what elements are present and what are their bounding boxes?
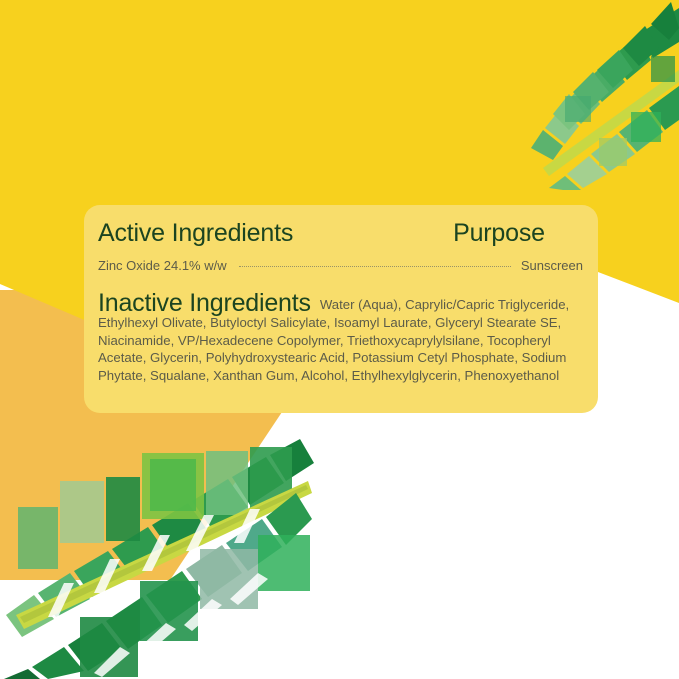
inactive-ingredients-heading: Inactive Ingredients [98, 289, 311, 317]
active-ingredients-heading: Active Ingredients [98, 219, 293, 248]
product-label-graphic: Active Ingredients Purpose Zinc Oxide 24… [0, 0, 679, 679]
inactive-ingredients-block: Inactive IngredientsWater (Aqua), Capryl… [98, 289, 583, 384]
ingredients-card: Active Ingredients Purpose Zinc Oxide 24… [84, 205, 598, 413]
active-ingredient-purpose: Sunscreen [521, 258, 583, 273]
active-ingredient-row: Zinc Oxide 24.1% w/w Sunscreen [98, 258, 583, 273]
active-ingredient-name: Zinc Oxide 24.1% w/w [98, 258, 227, 273]
purpose-heading: Purpose [453, 219, 545, 248]
dot-leader [239, 265, 511, 267]
active-ingredients-header-row: Active Ingredients Purpose [98, 219, 583, 248]
